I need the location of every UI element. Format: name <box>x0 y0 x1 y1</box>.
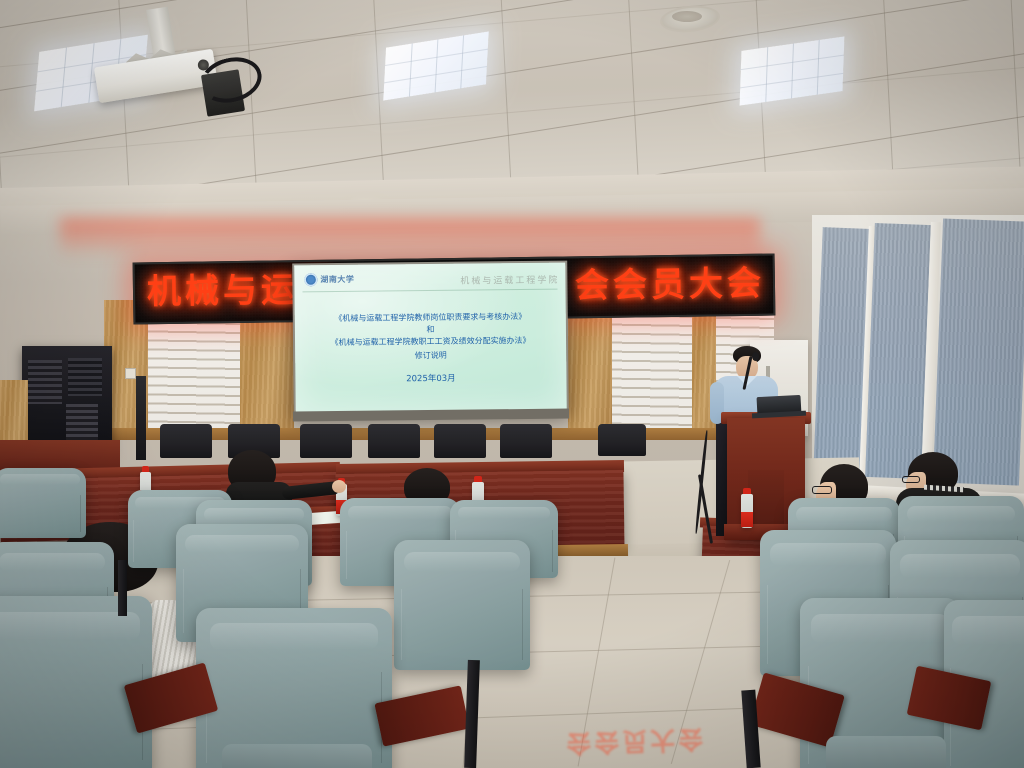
rack-unit-1 <box>28 360 62 404</box>
led-banner-floor-reflection: 会会员大会 <box>565 709 747 763</box>
floor-speaker <box>136 376 146 460</box>
ceiling-speaker-cone <box>672 11 702 22</box>
audience-chair-r1-c1[interactable] <box>0 596 152 768</box>
head-table-chair-4 <box>368 424 420 458</box>
slide-header-right: 机械与运载工程学院 <box>460 273 559 287</box>
led-glow-on-wall <box>60 218 760 258</box>
head-table-chair-7 <box>598 424 646 456</box>
head-table-chair-6 <box>500 424 552 458</box>
bottle-cap <box>474 476 482 482</box>
wall-switch-icon <box>125 368 136 379</box>
slide-university-logo: 湖南大学 <box>304 273 354 287</box>
head-table-chair-5 <box>434 424 486 458</box>
water-bottle-4 <box>741 494 753 528</box>
head-table-chair-3 <box>300 424 352 458</box>
podium-column <box>748 470 784 532</box>
window-blind-2 <box>865 223 931 479</box>
microphone-head-icon <box>752 352 759 361</box>
wall-slat-panel-center <box>612 300 694 432</box>
wall-wood-panel-center <box>568 300 614 428</box>
audience-chair-r3-c1[interactable] <box>0 468 86 538</box>
head-table-chair-1 <box>160 424 212 458</box>
led-banner-text-right: 会会员大会 <box>575 260 766 311</box>
chair-seat-cushion-1 <box>826 736 946 768</box>
window-blind-3 <box>933 218 1024 485</box>
attendee-right-back-glasses-icon <box>902 476 920 483</box>
bottle-cap <box>743 488 751 494</box>
chair-leg-3 <box>118 560 127 616</box>
chair-seat-cushion-2 <box>222 744 372 768</box>
conference-room-photo: 机械与运载 会会员大会 湖南大学 机械与运载工程学院 《机械与运载工程学院教师岗… <box>0 0 1024 768</box>
university-logo-icon <box>304 273 317 286</box>
slide-logo-text: 湖南大学 <box>320 274 354 285</box>
audience-chair-r2-c3[interactable] <box>394 540 530 670</box>
attendee-mid-left-hand <box>332 480 346 493</box>
attendee-right-glasses-icon <box>812 486 832 494</box>
bottle-label <box>741 512 753 527</box>
bottle-cap <box>142 466 149 472</box>
projection-screen: 湖南大学 机械与运载工程学院 《机械与运载工程学院教师岗位职责要求与考核办法》 … <box>294 263 567 413</box>
rack-unit-2 <box>68 358 102 396</box>
